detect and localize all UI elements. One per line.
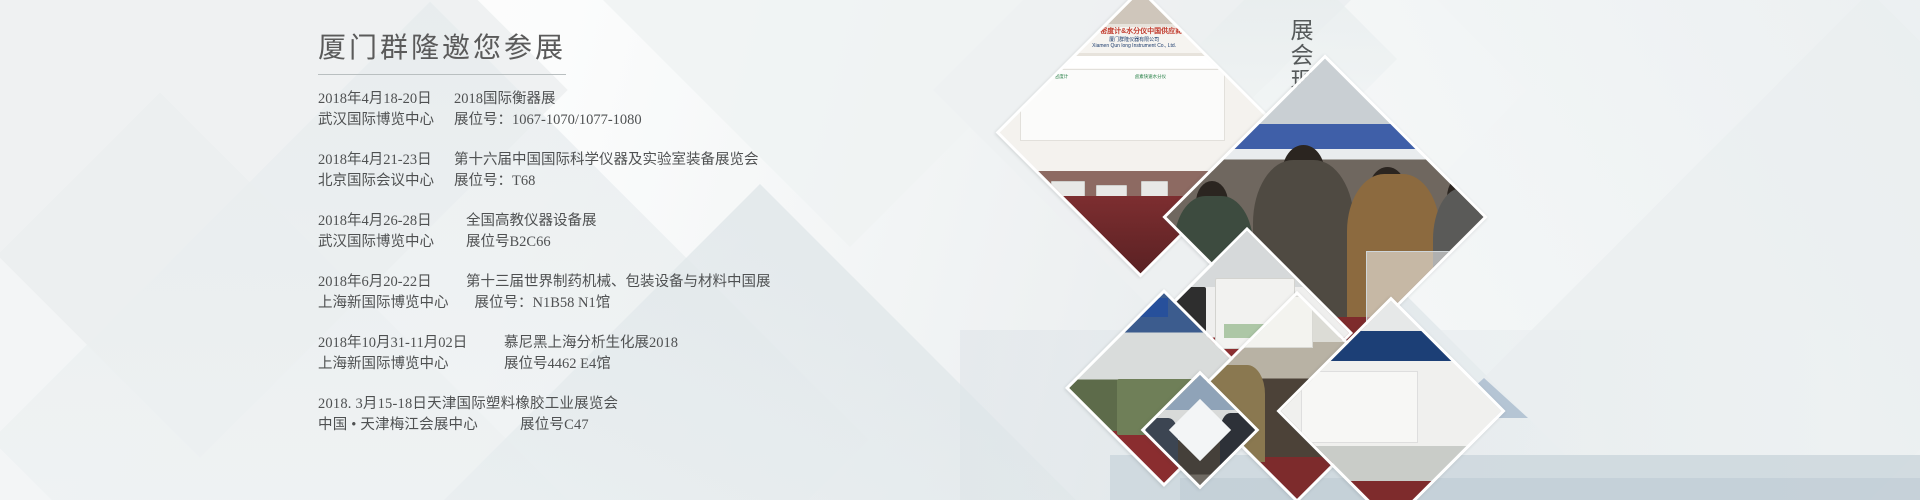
event-venue: 上海新国际博览中心	[318, 293, 449, 314]
booth-sign-red-text: 电子密度计&水分仪中国供应商	[1007, 27, 1262, 36]
event-booth: 展位号：N1B58 N1馆	[449, 293, 611, 314]
event-name: 2018国际衡器展	[440, 89, 556, 110]
event-item[interactable]: 2018年10月31-11月02日慕尼黑上海分析生化展2018 上海新国际博览中…	[318, 333, 978, 375]
event-item[interactable]: 2018年4月18-20日2018国际衡器展 武汉国际博览中心展位号：1067-…	[318, 89, 978, 131]
event-booth: 展位号C47	[494, 415, 589, 436]
event-booth: 展位号：T68	[440, 171, 535, 192]
event-date: 2018年10月31-11月02日	[318, 333, 478, 354]
event-venue: 中国 • 天津梅江会展中心	[318, 415, 494, 436]
event-item[interactable]: 2018年4月21-23日第十六届中国国际科学仪器及实验室装备展览会 北京国际会…	[318, 150, 978, 192]
event-list: 2018年4月18-20日2018国际衡器展 武汉国际博览中心展位号：1067-…	[318, 89, 978, 436]
event-venue: 北京国际会议中心	[318, 171, 440, 192]
event-booth: 展位号：1067-1070/1077-1080	[440, 110, 642, 131]
booth-sign-company: 厦门群隆仪器有限公司	[1007, 36, 1262, 43]
event-name: 第十三届世界制药机械、包装设备与材料中国展	[440, 272, 771, 293]
event-date: 2018年4月26-28日	[318, 211, 440, 232]
booth-sign-company-en: Xiamen Qun long Instrument Co., Ltd.	[1007, 43, 1262, 49]
photo-collage: 电子密度计&水分仪中国供应商 厦门群隆仪器有限公司 Xiamen Qun lon…	[1020, 0, 1440, 500]
event-venue: 武汉国际博览中心	[318, 232, 440, 253]
event-name: 慕尼黑上海分析生化展2018	[478, 333, 678, 354]
booth-header-sign: 电子密度计&水分仪中国供应商 厦门群隆仪器有限公司 Xiamen Qun lon…	[1007, 27, 1262, 52]
event-venue: 上海新国际博览中心	[318, 354, 478, 375]
event-date: 2018. 3月15-18日天津国际塑料橡胶工业展览会	[318, 394, 618, 415]
event-name: 全国高教仪器设备展	[440, 211, 597, 232]
event-item[interactable]: 2018年4月26-28日全国高教仪器设备展 武汉国际博览中心展位号B2C66	[318, 211, 978, 253]
banner-stage: 厦门群隆邀您参展 2018年4月18-20日2018国际衡器展 武汉国际博览中心…	[0, 0, 1920, 500]
event-venue: 武汉国际博览中心	[318, 110, 440, 131]
panel-label-left: 群隆电子密度计	[1037, 74, 1069, 80]
event-date: 2018年4月18-20日	[318, 89, 440, 110]
event-date: 2018年6月20-22日	[318, 272, 440, 293]
event-name: 第十六届中国国际科学仪器及实验室装备展览会	[440, 150, 759, 171]
panel-label-right: 卤素快速水分仪	[1135, 74, 1167, 80]
event-list-panel: 厦门群隆邀您参展 2018年4月18-20日2018国际衡器展 武汉国际博览中心…	[318, 20, 978, 455]
booth-product-panel: 群隆电子密度计 卤素快速水分仪	[1020, 69, 1226, 141]
event-item[interactable]: 2018. 3月15-18日天津国际塑料橡胶工业展览会 中国 • 天津梅江会展中…	[318, 394, 978, 436]
page-title: 厦门群隆邀您参展	[318, 20, 566, 75]
event-item[interactable]: 2018年6月20-22日第十三届世界制药机械、包装设备与材料中国展 上海新国际…	[318, 272, 978, 314]
event-booth: 展位号4462 E4馆	[478, 354, 611, 375]
event-booth: 展位号B2C66	[440, 232, 551, 253]
event-date: 2018年4月21-23日	[318, 150, 440, 171]
